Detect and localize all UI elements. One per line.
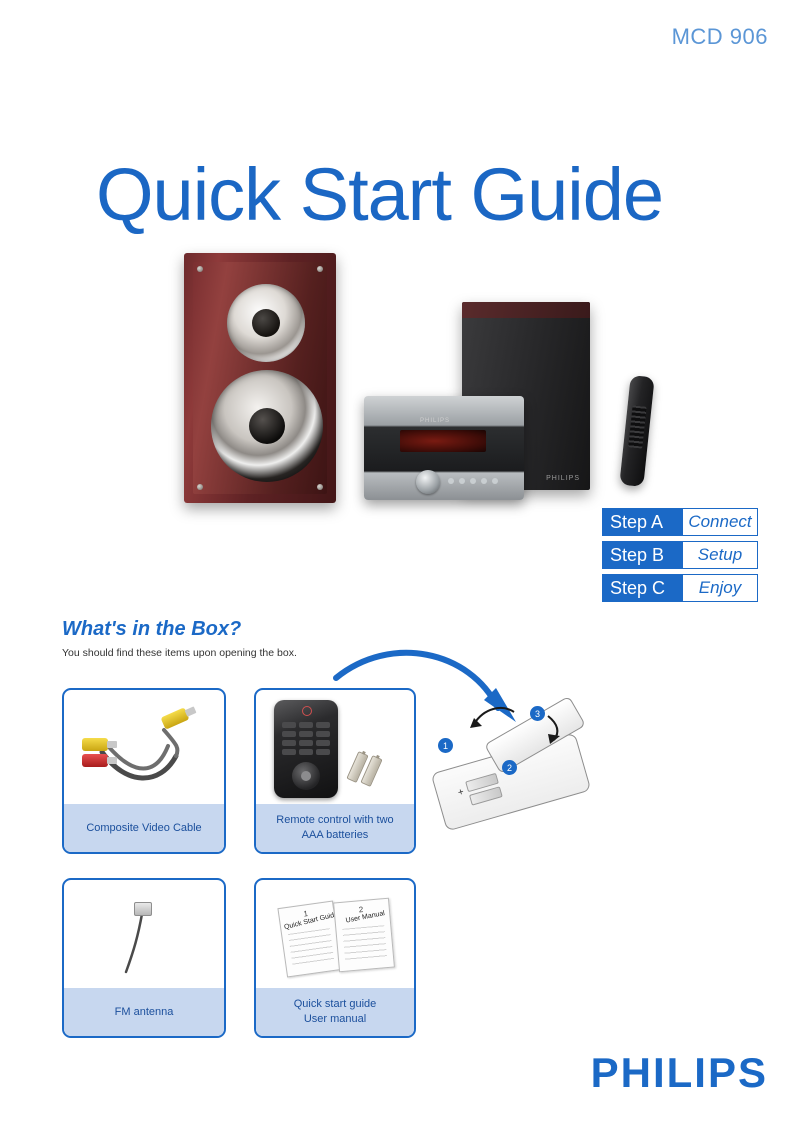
unit-button <box>448 478 454 484</box>
woofer-driver <box>211 370 323 482</box>
box-item-fm-antenna: FM antenna <box>62 878 226 1038</box>
box-item-composite-video-cable: Composite Video Cable <box>62 688 226 854</box>
step-b-label: Step B <box>602 541 682 569</box>
box-item-caption: Quick start guide User manual <box>256 988 414 1036</box>
step-c-label: Step C <box>602 574 682 602</box>
antenna-wire-icon <box>64 880 226 992</box>
volume-knob <box>416 470 440 494</box>
unit-display <box>400 430 486 452</box>
left-speaker-image <box>184 253 336 503</box>
product-photo: PHILIPS PHILIPS <box>170 248 690 513</box>
box-item-caption: Composite Video Cable <box>64 804 224 852</box>
page-root: MCD 906 Quick Start Guide PHILIPS PHILIP… <box>0 0 802 1145</box>
remote-key <box>282 749 296 755</box>
page-title: Quick Start Guide <box>96 152 663 237</box>
model-number: MCD 906 <box>672 24 768 50</box>
whats-in-the-box-subheading: You should find these items upon opening… <box>62 647 297 659</box>
remote-key <box>282 731 296 737</box>
battery-insertion-diagram: + 1 2 3 <box>430 690 620 860</box>
step-row-c: Step C Enjoy <box>602 574 758 602</box>
callout-3: 3 <box>530 706 545 721</box>
rca-connector-red <box>82 754 108 767</box>
fm-antenna-illustration <box>64 880 224 988</box>
callout-2: 2 <box>502 760 517 775</box>
manual-title: User Manual <box>345 910 385 924</box>
step-row-a: Step A Connect <box>602 508 758 536</box>
callout-1: 1 <box>438 738 453 753</box>
box-item-caption: Remote control with two AAA batteries <box>256 804 414 852</box>
composite-video-cable-illustration <box>64 690 224 804</box>
remote-key <box>282 722 296 728</box>
step-a-label: Step A <box>602 508 682 536</box>
remote-key <box>299 749 313 755</box>
remote-control-photo <box>619 375 654 487</box>
rca-connector-yellow <box>82 738 108 751</box>
step-a-value: Connect <box>682 508 758 536</box>
manual-number: 2 <box>358 905 363 914</box>
screw-icon <box>197 484 203 490</box>
step-b-value: Setup <box>682 541 758 569</box>
screw-icon <box>317 266 323 272</box>
box-item-caption: FM antenna <box>64 988 224 1036</box>
unit-button <box>459 478 465 484</box>
remote-key <box>299 731 313 737</box>
unit-button <box>470 478 476 484</box>
unit-button-row <box>448 478 498 484</box>
screw-icon <box>197 266 203 272</box>
antenna-plug-icon <box>134 902 152 916</box>
unit-brand-label: PHILIPS <box>420 418 450 424</box>
unit-button <box>481 478 487 484</box>
power-button-icon <box>302 706 312 716</box>
philips-logo: PHILIPS <box>591 1049 768 1097</box>
manual-title: Quick Start Guide <box>284 911 339 931</box>
remote-body <box>274 700 338 798</box>
screw-icon <box>317 484 323 490</box>
manual-text-lines <box>342 925 387 963</box>
diagram-arrows-icon <box>430 690 620 860</box>
remote-key <box>316 722 330 728</box>
speaker-face <box>193 262 327 494</box>
navigation-pad-icon <box>292 762 320 790</box>
speaker-top-panel <box>462 302 590 318</box>
remote-key <box>316 749 330 755</box>
manuals-illustration: 1 Quick Start Guide 2 User Manual <box>256 880 414 988</box>
user-manual-sheet: 2 User Manual <box>333 898 395 973</box>
speaker-brand-label: PHILIPS <box>546 475 580 482</box>
box-item-manuals: 1 Quick Start Guide 2 User Manual Quick … <box>254 878 416 1038</box>
remote-key <box>299 722 313 728</box>
steps-list: Step A Connect Step B Setup Step C Enjoy <box>602 508 758 607</box>
remote-keypad-grid <box>282 722 330 755</box>
remote-key <box>316 731 330 737</box>
remote-key <box>299 740 313 746</box>
unit-button <box>492 478 498 484</box>
step-c-value: Enjoy <box>682 574 758 602</box>
remote-keypad <box>628 405 646 448</box>
tweeter-driver <box>227 284 305 362</box>
quick-start-guide-sheet: 1 Quick Start Guide <box>277 900 342 977</box>
remote-key <box>282 740 296 746</box>
whats-in-the-box-heading: What's in the Box? <box>62 618 241 641</box>
manual-text-lines <box>288 928 334 968</box>
step-row-b: Step B Setup <box>602 541 758 569</box>
remote-key <box>316 740 330 746</box>
micro-system-unit-image: PHILIPS <box>364 396 524 500</box>
